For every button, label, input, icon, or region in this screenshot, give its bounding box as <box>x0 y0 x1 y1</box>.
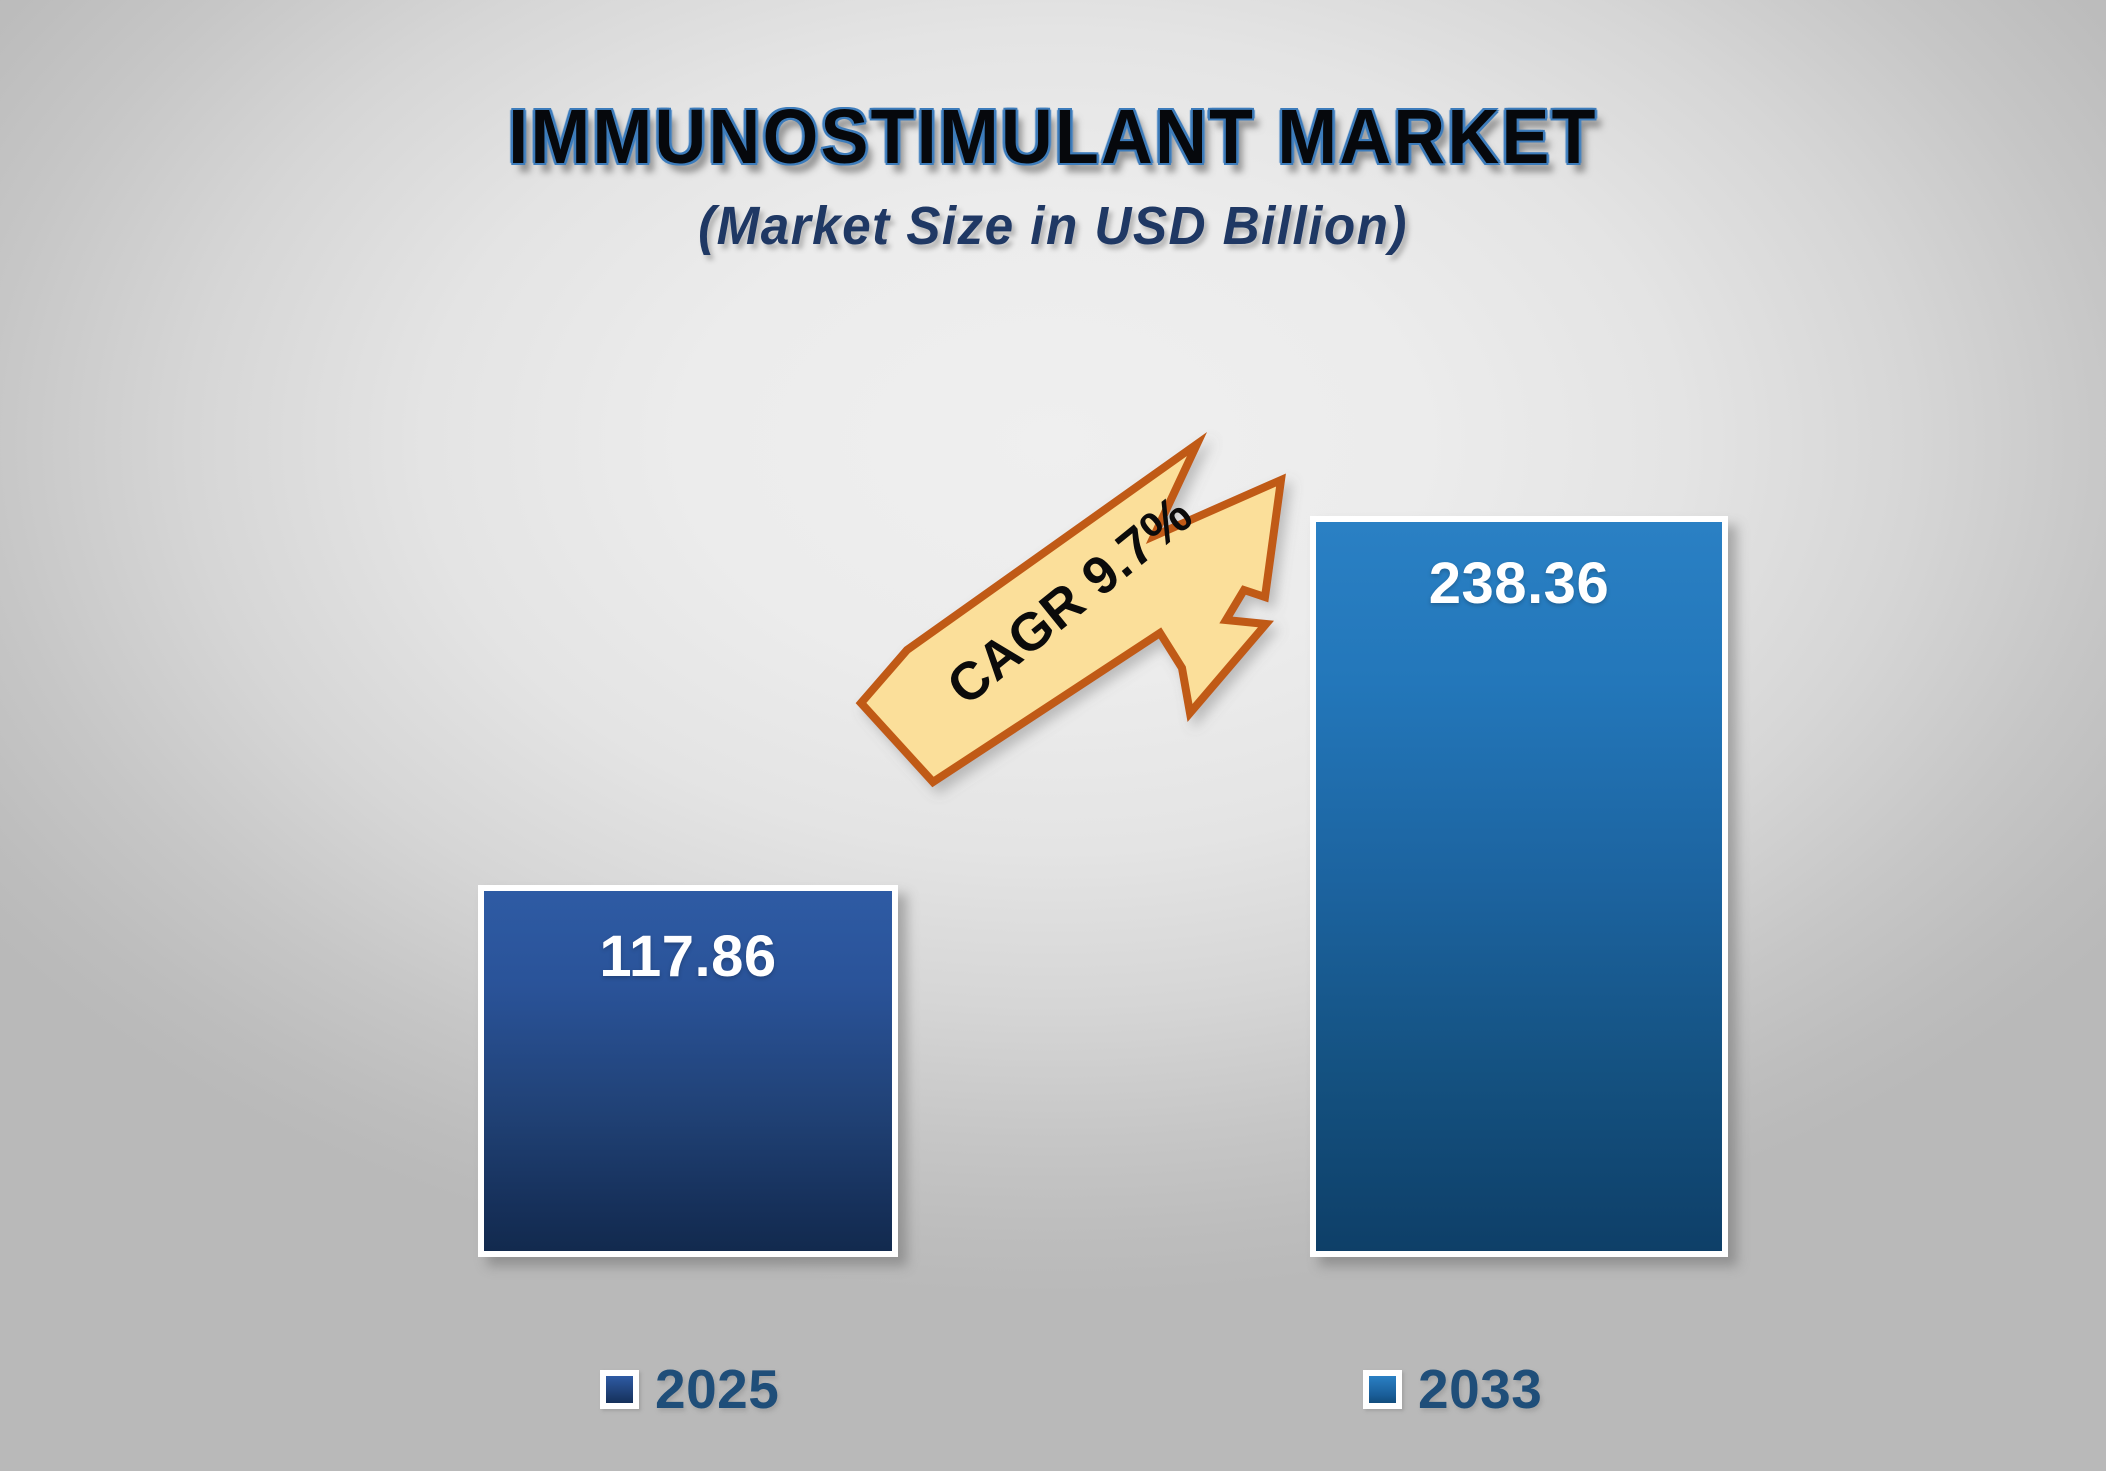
cagr-label: CAGR 9.7% <box>903 457 1237 744</box>
chart-canvas: IMMUNOSTIMULANT MARKET (Market Size in U… <box>0 0 2106 1471</box>
legend-item-2025: 2025 <box>600 1362 779 1417</box>
legend-item-2033: 2033 <box>1363 1362 1542 1417</box>
bar-value-2033: 238.36 <box>1316 550 1722 617</box>
title-block: IMMUNOSTIMULANT MARKET (Market Size in U… <box>0 96 2106 257</box>
legend-swatch-2025 <box>600 1370 639 1409</box>
arrow-shape <box>861 444 1281 782</box>
legend-label-2033: 2033 <box>1418 1362 1542 1417</box>
chart-subtitle: (Market Size in USD Billion) <box>53 195 2054 257</box>
legend-label-2025: 2025 <box>655 1362 779 1417</box>
chart-title: IMMUNOSTIMULANT MARKET <box>74 96 2033 179</box>
legend-swatch-2033 <box>1363 1370 1402 1409</box>
bar-2025: 117.86 <box>478 885 898 1257</box>
cagr-arrow-icon <box>845 425 1305 805</box>
bar-value-2025: 117.86 <box>484 923 892 990</box>
bar-2033: 238.36 <box>1310 516 1728 1257</box>
